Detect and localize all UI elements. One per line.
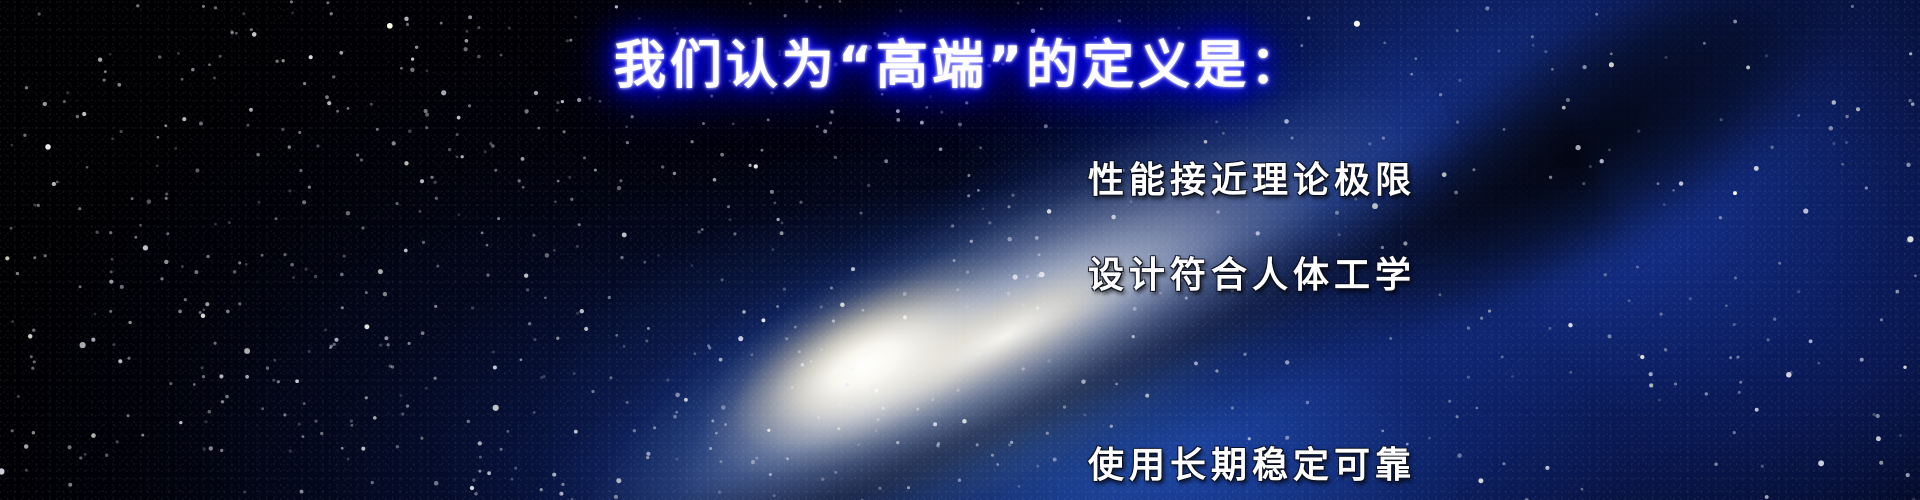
starfield-bright [0,0,2,2]
page-title: 我们认为“高端”的定义是： [0,36,1920,96]
list-item: 设计符合人体工学 [1088,255,1508,297]
feature-list: 性能接近理论极限 设计符合人体工学 使用长期稳定可靠 [1088,160,1508,487]
list-item: 使用长期稳定可靠 [1088,445,1508,487]
hero-banner: 我们认为“高端”的定义是： 性能接近理论极限 设计符合人体工学 使用长期稳定可靠 [0,0,1920,500]
list-item: 性能接近理论极限 [1088,160,1508,202]
galaxy-core [611,165,1099,500]
